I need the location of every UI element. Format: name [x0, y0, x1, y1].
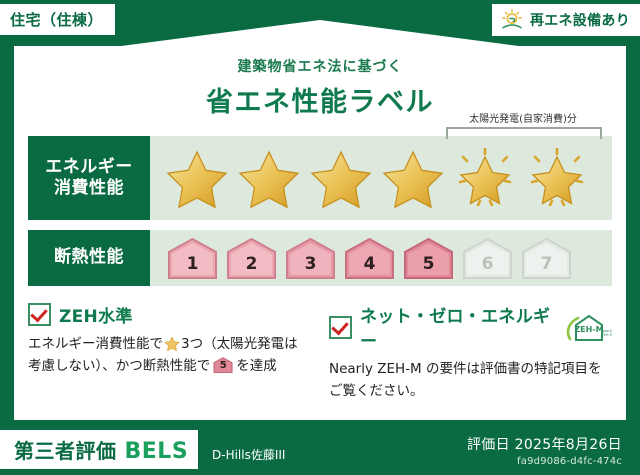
- star-icon: [166, 148, 228, 208]
- svg-text:ZEH-M: ZEH-M: [601, 333, 612, 337]
- star-icon: [164, 336, 180, 351]
- zeh-text-part3: を達成: [236, 358, 277, 374]
- energy-performance-stars-cell: 太陽光発電(自家消費)分: [150, 136, 612, 220]
- energy-performance-label-cell: エネルギー 消費性能: [28, 136, 150, 220]
- insulation-badge: 7: [520, 237, 573, 279]
- third-party-evaluation-tag: 第三者評価 BELS: [0, 430, 198, 469]
- evaluation-meta: 評価日 2025年8月26日 fa9d9086-d4fc-474c: [467, 434, 622, 467]
- insulation-badge-value: 5: [423, 254, 435, 279]
- check-icon: [329, 316, 352, 339]
- insulation-badge: 5: [402, 237, 455, 279]
- zeh-standard-title: ZEH水準: [59, 302, 133, 327]
- star-rating: [150, 148, 588, 208]
- insulation-badge-value: 3: [305, 254, 317, 279]
- zeh-section: ZEH水準 エネルギー消費性能で3つ（太陽光発電は考慮しない）、かつ断熱性能で5…: [28, 302, 612, 403]
- insulation-badge-inline-value: 5: [212, 358, 234, 375]
- title-block: 建築物省エネ法に基づく 省エネ性能ラベル: [0, 56, 640, 119]
- renewable-tag-label: 再エネ設備あり: [530, 10, 630, 30]
- third-party-evaluation-label: 第三者評価: [14, 435, 117, 464]
- zeh-standard-block: ZEH水準 エネルギー消費性能で3つ（太陽光発電は考慮しない）、かつ断熱性能で5…: [28, 302, 311, 403]
- title-subtitle: 建築物省エネ法に基づく: [0, 56, 640, 76]
- renewable-equipment-tag: 再エネ設備あり: [492, 4, 640, 36]
- zeh-standard-description: エネルギー消費性能で3つ（太陽光発電は考慮しない）、かつ断熱性能で5を達成: [28, 333, 311, 378]
- document-id: fa9d9086-d4fc-474c: [467, 456, 622, 467]
- check-icon: [28, 303, 51, 326]
- insulation-performance-row: 断熱性能 1 2: [28, 230, 612, 286]
- energy-performance-row: エネルギー 消費性能 太陽光発電(自家消費)分: [28, 136, 612, 220]
- page-title: 省エネ性能ラベル: [0, 80, 640, 119]
- sun-solar-icon: [500, 8, 524, 32]
- insulation-performance-label-cell: 断熱性能: [28, 230, 150, 286]
- net-zero-energy-header: ネット・ゼロ・エネルギー ZEH-M Nearly ZEH-M: [329, 302, 612, 352]
- svg-text:ZEH-M: ZEH-M: [574, 325, 603, 334]
- insulation-badge: 1: [166, 237, 219, 279]
- insulation-badge: 3: [284, 237, 337, 279]
- insulation-grade-scale: 1 2 3: [150, 237, 573, 279]
- evaluation-date: 評価日 2025年8月26日: [467, 434, 622, 454]
- insulation-badge-value: 1: [187, 254, 199, 279]
- energy-performance-label: 住宅（住棟） 再エネ設備あり 建築物省エネ法に基づく 省エネ性能ラベル: [0, 0, 640, 475]
- building-type-tag: 住宅（住棟）: [0, 4, 115, 35]
- star-icon: [238, 148, 300, 208]
- zeh-standard-header: ZEH水準: [28, 302, 311, 327]
- insulation-badges-cell: 1 2 3: [150, 230, 612, 286]
- energy-label-line2: 消費性能: [45, 178, 133, 199]
- insulation-badge: 4: [343, 237, 396, 279]
- star-solar-icon: [526, 148, 588, 208]
- zeh-m-house-icon: ZEH-M Nearly ZEH-M: [566, 312, 612, 342]
- label-body: エネルギー 消費性能 太陽光発電(自家消費)分: [14, 118, 626, 420]
- star-icon: [382, 148, 444, 208]
- insulation-badge-value: 7: [541, 254, 553, 279]
- insulation-badge-value: 6: [482, 254, 494, 279]
- bels-logo-label: BELS: [125, 439, 189, 464]
- zeh-text-part1: エネルギー消費性能で: [28, 336, 163, 352]
- star-icon: [310, 148, 372, 208]
- net-zero-energy-block: ネット・ゼロ・エネルギー ZEH-M Nearly ZEH-M Nearly Z…: [329, 302, 612, 403]
- net-zero-energy-title: ネット・ゼロ・エネルギー: [360, 302, 554, 352]
- energy-label-line1: エネルギー: [45, 157, 133, 178]
- insulation-badge-value: 2: [246, 254, 258, 279]
- solar-bracket: [446, 127, 602, 139]
- insulation-badge-inline: 5: [212, 357, 234, 373]
- insulation-badge-value: 4: [364, 254, 376, 279]
- insulation-badge: 6: [461, 237, 514, 279]
- star-solar-icon: [454, 148, 516, 208]
- building-name: D-Hills佐藤III: [212, 446, 285, 463]
- insulation-badge: 2: [225, 237, 278, 279]
- net-zero-energy-description: Nearly ZEH-M の要件は評価書の特記項目をご覧ください。: [329, 358, 612, 403]
